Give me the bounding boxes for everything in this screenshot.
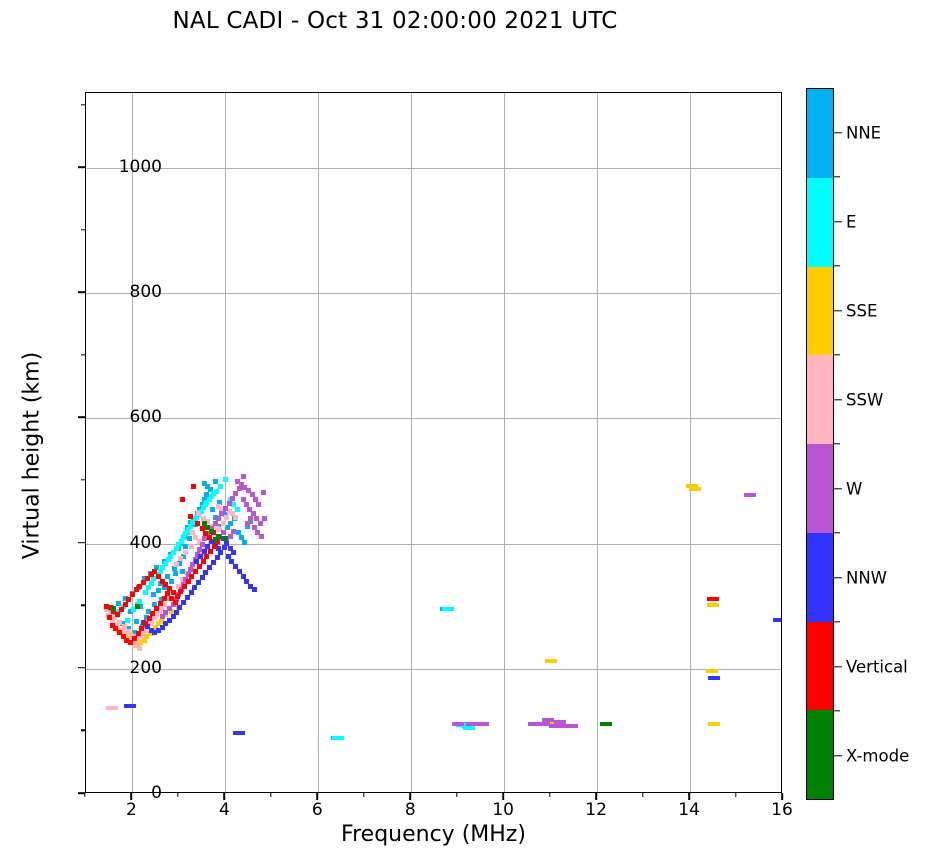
- data-point-x-mode: [600, 722, 612, 726]
- data-point-vertical: [208, 549, 213, 554]
- colorbar-boundary-tick: [834, 176, 840, 177]
- data-point-nnw: [200, 575, 205, 580]
- data-point-e: [218, 484, 223, 489]
- colorbar-segment-vertical: [807, 622, 833, 711]
- data-point-w: [231, 529, 236, 534]
- colorbar-label-nnw: NNW: [846, 568, 887, 587]
- x-axis-tick-label: 16: [771, 800, 793, 820]
- data-point-vertical: [707, 597, 719, 601]
- data-point-vertical: [158, 601, 163, 606]
- x-axis-minor-tick: [270, 793, 271, 797]
- data-point-ssw: [189, 544, 194, 549]
- data-point-nne: [173, 571, 178, 576]
- data-point-ssw: [224, 515, 229, 520]
- data-point-vertical: [175, 594, 180, 599]
- x-axis-tick: [317, 793, 319, 800]
- data-point-vertical: [201, 559, 206, 564]
- colorbar-label-nne: NNE: [846, 123, 881, 142]
- colorbar-segment-nne: [807, 89, 833, 178]
- data-point-ssw: [221, 521, 226, 526]
- y-axis-tick-label: 400: [130, 533, 162, 553]
- data-point-nne: [228, 521, 233, 526]
- data-point-nnw: [207, 565, 212, 570]
- data-point-w: [256, 502, 261, 507]
- x-axis-minor-tick: [735, 793, 736, 797]
- y-axis-tick: [78, 166, 85, 168]
- data-point-vertical: [212, 544, 217, 549]
- data-point-nnw: [231, 550, 236, 555]
- colorbar-segment-x-mode: [807, 710, 833, 799]
- data-point-e: [235, 507, 240, 512]
- data-point-sse: [689, 487, 701, 491]
- data-point-x-mode: [135, 604, 140, 609]
- data-point-vertical: [173, 600, 178, 605]
- data-point-w: [477, 722, 489, 726]
- data-point-nnw: [177, 605, 182, 610]
- data-point-nnw: [215, 555, 220, 560]
- data-point-w: [241, 474, 246, 479]
- data-point-vertical: [119, 607, 124, 612]
- colorbar-label-w: W: [846, 479, 862, 498]
- data-point-vertical: [193, 569, 198, 574]
- data-point-nnw: [773, 618, 782, 622]
- colorbar-label-ssw: SSW: [846, 390, 883, 409]
- data-point-w: [219, 511, 224, 516]
- data-point-nne: [205, 484, 210, 489]
- y-axis-minor-tick: [81, 354, 85, 355]
- x-axis-minor-tick: [456, 793, 457, 797]
- data-point-vertical: [147, 616, 152, 621]
- data-point-nne: [151, 592, 156, 597]
- data-point-w: [237, 486, 242, 491]
- data-point-w: [261, 490, 266, 495]
- x-axis-tick: [781, 793, 783, 800]
- data-point-vertical: [104, 604, 109, 609]
- data-point-w: [744, 493, 756, 497]
- data-point-vertical: [189, 574, 194, 579]
- x-axis-minor-tick: [177, 793, 178, 797]
- data-point-e: [203, 502, 208, 507]
- x-axis-minor-tick: [642, 793, 643, 797]
- data-point-nne: [225, 525, 230, 530]
- y-axis-tick-label: 200: [130, 658, 162, 678]
- data-point-e: [185, 530, 190, 535]
- data-point-w: [566, 724, 578, 728]
- colorbar-label-sse: SSE: [846, 301, 877, 320]
- data-point-vertical: [162, 596, 167, 601]
- y-axis-minor-tick: [81, 229, 85, 230]
- data-point-w: [245, 521, 250, 526]
- data-point-nnw: [192, 585, 197, 590]
- x-axis-tick: [409, 793, 411, 800]
- data-point-nnw: [189, 590, 194, 595]
- x-axis-tick-label: 12: [585, 800, 607, 820]
- data-point-e: [125, 618, 130, 623]
- y-axis-tick-label: 800: [130, 282, 162, 302]
- y-axis-minor-tick: [81, 605, 85, 606]
- data-point-w: [216, 516, 221, 521]
- data-point-w: [466, 722, 478, 726]
- x-axis-tick: [595, 793, 597, 800]
- x-axis-label: Frequency (MHz): [85, 822, 782, 847]
- data-point-sse: [708, 722, 720, 726]
- data-point-e: [179, 539, 184, 544]
- data-point-vertical: [150, 611, 155, 616]
- data-point-x-mode: [223, 536, 228, 541]
- colorbar-tick: [834, 577, 842, 578]
- y-axis-minor-tick: [81, 479, 85, 480]
- data-point-vertical: [143, 621, 148, 626]
- data-point-x-mode: [216, 534, 221, 539]
- data-point-nnw: [233, 731, 245, 735]
- data-point-w: [554, 720, 566, 724]
- data-point-vertical: [207, 535, 212, 540]
- colorbar-tick: [834, 399, 842, 400]
- data-point-vertical: [107, 615, 112, 620]
- data-point-vertical: [197, 564, 202, 569]
- data-point-e: [188, 524, 193, 529]
- data-point-w: [213, 521, 218, 526]
- y-axis-minor-tick: [81, 104, 85, 105]
- data-point-sse: [545, 659, 557, 663]
- data-point-ssw: [183, 550, 188, 555]
- data-point-w: [542, 718, 554, 722]
- data-point-e: [146, 585, 151, 590]
- data-point-vertical: [178, 589, 183, 594]
- x-axis-tick: [131, 793, 133, 800]
- data-point-w: [227, 501, 232, 506]
- data-point-vertical: [154, 606, 159, 611]
- y-axis-tick-label: 600: [130, 407, 162, 427]
- data-point-vertical: [188, 514, 193, 519]
- y-axis-tick-label: 0: [151, 783, 162, 803]
- data-point-nne: [210, 507, 215, 512]
- data-point-e: [168, 554, 173, 559]
- data-point-x-mode: [209, 529, 214, 534]
- data-point-nnw: [211, 560, 216, 565]
- scatter-data-layer: [86, 93, 781, 792]
- data-point-vertical: [139, 626, 144, 631]
- x-axis-tick-label: 2: [126, 800, 137, 820]
- data-point-nnw: [252, 587, 257, 592]
- data-point-nne: [156, 588, 161, 593]
- data-point-nne: [242, 540, 247, 545]
- data-point-nnw: [196, 580, 201, 585]
- data-point-w: [230, 496, 235, 501]
- x-axis-tick-label: 14: [678, 800, 700, 820]
- data-point-nnw: [203, 570, 208, 575]
- x-axis-minor-tick: [549, 793, 550, 797]
- colorbar-segment-ssw: [807, 355, 833, 444]
- x-axis-tick: [224, 793, 226, 800]
- data-point-w: [160, 614, 165, 619]
- data-point-x-mode: [111, 606, 116, 611]
- data-point-w: [259, 534, 264, 539]
- data-point-w: [538, 722, 550, 726]
- x-axis-tick-label: 6: [312, 800, 323, 820]
- data-point-nnw: [181, 600, 186, 605]
- x-axis-tick: [502, 793, 504, 800]
- data-point-vertical: [136, 631, 141, 636]
- data-point-w: [262, 516, 267, 521]
- data-point-w: [223, 506, 228, 511]
- data-point-vertical: [123, 602, 128, 607]
- y-axis-tick-label: 1000: [119, 157, 162, 177]
- data-point-e: [442, 607, 454, 611]
- colorbar-tick: [834, 310, 842, 311]
- data-point-nnw: [124, 704, 136, 708]
- data-point-w: [452, 722, 464, 726]
- colorbar-tick: [834, 132, 842, 133]
- data-point-vertical: [186, 579, 191, 584]
- data-point-vertical: [115, 612, 120, 617]
- data-point-e: [223, 477, 228, 482]
- y-axis-tick: [78, 291, 85, 293]
- colorbar-tick: [834, 488, 842, 489]
- data-point-ssw: [233, 515, 238, 520]
- colorbar-label-vertical: Vertical: [846, 657, 908, 676]
- colorbar-tick: [834, 755, 842, 756]
- data-point-vertical: [191, 484, 196, 489]
- colorbar-segment-e: [807, 178, 833, 267]
- data-point-e: [332, 736, 344, 740]
- y-axis-label: Virtual height (km): [20, 256, 45, 656]
- data-point-ssw: [178, 556, 183, 561]
- colorbar-segment-nnw: [807, 533, 833, 622]
- data-point-nne: [134, 619, 139, 624]
- data-point-w: [248, 516, 253, 521]
- data-point-vertical: [182, 584, 187, 589]
- x-axis-tick-label: 4: [219, 800, 230, 820]
- data-point-vertical: [130, 592, 135, 597]
- y-axis-tick: [78, 542, 85, 544]
- data-point-e: [463, 726, 475, 730]
- colorbar-boundary-tick: [834, 265, 840, 266]
- ionogram-plot-area: [85, 92, 782, 793]
- x-axis-tick-label: 8: [405, 800, 416, 820]
- data-point-w: [233, 491, 238, 496]
- data-point-nne: [213, 479, 218, 484]
- data-point-sse: [706, 669, 718, 673]
- y-axis-tick: [78, 417, 85, 419]
- data-point-nne: [187, 536, 192, 541]
- data-point-sse: [142, 638, 147, 643]
- x-axis-tick: [688, 793, 690, 800]
- colorbar-label-x-mode: X-mode: [846, 746, 909, 765]
- colorbar-boundary-tick: [834, 354, 840, 355]
- colorbar-tick: [834, 666, 842, 667]
- data-point-ssw: [106, 706, 118, 710]
- data-point-w: [258, 521, 263, 526]
- data-point-vertical: [132, 636, 137, 641]
- y-axis-tick: [78, 792, 85, 794]
- colorbar-boundary-tick: [834, 443, 840, 444]
- data-point-nne: [169, 579, 174, 584]
- colorbar-segment-sse: [807, 267, 833, 356]
- colorbar-boundary-tick: [834, 532, 840, 533]
- data-point-sse: [707, 603, 719, 607]
- colorbar-segment-w: [807, 444, 833, 533]
- data-point-vertical: [180, 497, 185, 502]
- data-point-ssw: [137, 646, 142, 651]
- data-point-ssw: [174, 562, 179, 567]
- colorbar-boundary-tick: [834, 621, 840, 622]
- data-point-e: [143, 590, 148, 595]
- colorbar-boundary-tick: [834, 710, 840, 711]
- y-axis-tick: [78, 667, 85, 669]
- data-point-vertical: [126, 597, 131, 602]
- x-axis-minor-tick: [363, 793, 364, 797]
- data-point-nnw: [708, 676, 720, 680]
- colorbar-label-e: E: [846, 212, 856, 231]
- data-point-vertical: [204, 554, 209, 559]
- data-point-e: [211, 491, 216, 496]
- x-axis-tick-label: 10: [492, 800, 514, 820]
- page-title: NAL CADI - Oct 31 02:00:00 2021 UTC: [0, 8, 790, 34]
- data-point-ssw: [140, 631, 145, 636]
- y-axis-minor-tick: [81, 730, 85, 731]
- azimuth-colorbar: [806, 88, 834, 800]
- data-point-e: [174, 546, 179, 551]
- data-point-nnw: [185, 595, 190, 600]
- colorbar-tick: [834, 221, 842, 222]
- data-point-e: [163, 561, 168, 566]
